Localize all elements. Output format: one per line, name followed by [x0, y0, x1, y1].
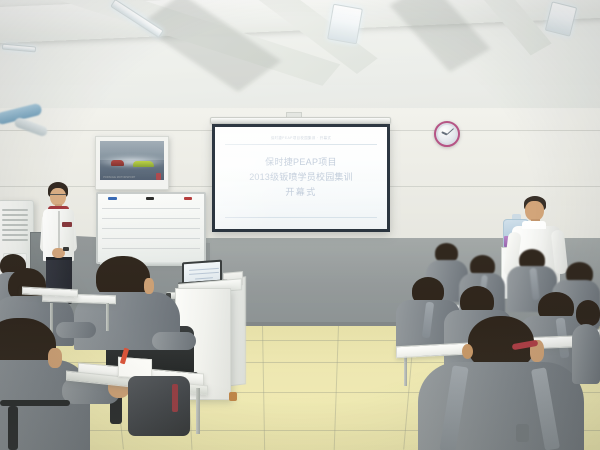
poster-car-green — [133, 161, 154, 168]
poster-car-red — [111, 160, 124, 166]
chair-leg — [8, 406, 18, 450]
slide-title-block: 保时捷PEAP项目 2013级钣喷学员校园集训 开幕式 — [215, 155, 387, 200]
name-badge — [62, 222, 72, 227]
presenter-right-collar — [522, 221, 546, 229]
fluorescent-light-icon — [327, 4, 363, 45]
whiteboard-marker-blue — [108, 197, 117, 200]
whiteboard — [96, 192, 206, 264]
wall-clock-icon — [434, 121, 460, 147]
slide-header-text: 保时捷PEAP项目校园集训 · 开幕式 — [215, 135, 387, 140]
classroom-photo: 保时捷PEAP项目校园集训 · 开幕式 保时捷PEAP项目 2013级钣喷学员校… — [0, 0, 600, 450]
slide-title-line-3: 开幕式 — [215, 185, 387, 200]
presenter-right-face — [525, 201, 544, 221]
glasses-icon — [50, 194, 66, 198]
clock-minute-hand — [447, 128, 454, 135]
screen-roller-housing — [210, 117, 391, 124]
wristwatch-icon — [63, 247, 69, 251]
fluorescent-light-icon — [2, 44, 36, 53]
backpack — [128, 376, 190, 436]
slide-divider — [225, 144, 377, 145]
podium-caster-wheel — [229, 392, 237, 401]
slide-divider — [225, 217, 377, 218]
slide-title-line-1: 保时捷PEAP项目 — [215, 155, 387, 170]
fluorescent-light-icon — [545, 1, 577, 36]
projection-screen: 保时捷PEAP项目校园集训 · 开幕式 保时捷PEAP项目 2013级钣喷学员校… — [212, 124, 390, 232]
slide-title-line-2: 2013级钣喷学员校园集训 — [215, 170, 387, 185]
framed-poster: PORSCHE MOTORSPORT — [95, 136, 169, 190]
whiteboard-marker-black — [146, 197, 154, 200]
clock-face — [438, 125, 456, 143]
poster-logo-icon — [156, 173, 161, 180]
whiteboard-marker-red — [184, 197, 192, 200]
ceiling — [0, 0, 600, 118]
poster-caption: PORSCHE MOTORSPORT — [103, 176, 135, 179]
